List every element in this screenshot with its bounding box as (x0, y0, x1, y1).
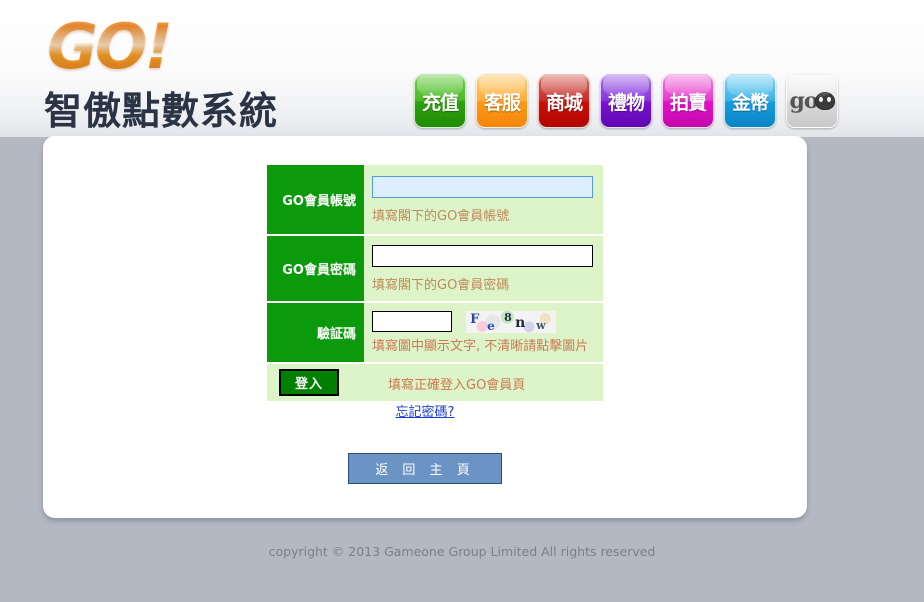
captcha-image[interactable]: F e 8 n w (466, 311, 556, 333)
nav-label-recharge: 充值 (422, 88, 458, 115)
nav-label-gift: 禮物 (608, 88, 644, 115)
label-account: GO會員帳號 (267, 165, 364, 235)
nav-button-go-home[interactable]: go (786, 74, 838, 128)
captcha-char-0: F (470, 312, 479, 327)
site-logo[interactable]: GO! GO! 智傲點數系統 (42, 8, 372, 130)
submit-cell-button: 登入 (267, 363, 364, 401)
forgot-password-link[interactable]: 忘記密碼? (396, 405, 455, 420)
go-logo-text: GO! (47, 10, 170, 83)
hint-password: 填寫閣下的GO會員密碼 (372, 274, 603, 293)
form-row-submit: 登入 填寫正確登入GO會員頁 (267, 363, 603, 401)
site-title: 智傲點數系統 (44, 80, 278, 135)
nav-label-auction: 拍賣 (670, 88, 706, 115)
login-form: GO會員帳號 填寫閣下的GO會員帳號 GO會員密碼 填寫閣下的GO會員密碼 驗証… (267, 165, 603, 401)
nav-button-mall[interactable]: 商城 (538, 74, 590, 128)
footer-copyright: copyright © 2013 Gameone Group Limited A… (0, 544, 924, 559)
submit-cell-hint: 填寫正確登入GO會員頁 (364, 363, 603, 401)
nav-label-mall: 商城 (546, 88, 582, 115)
captcha-char-4: w (536, 319, 545, 332)
nav-button-auction[interactable]: 拍賣 (662, 74, 714, 128)
page-header: GO! GO! 智傲點數系統 充值 客服 商城 禮物 拍賣 金幣 go (0, 0, 924, 137)
go-logo-icon-text: go (789, 88, 817, 114)
captcha-char-1: e (487, 319, 495, 333)
form-row-password: GO會員密碼 填寫閣下的GO會員密碼 (267, 235, 603, 302)
login-button[interactable]: 登入 (279, 369, 339, 396)
captcha-char-2: 8 (504, 311, 512, 324)
go-face-icon (815, 92, 835, 110)
captcha-input[interactable] (372, 311, 452, 332)
login-panel: GO會員帳號 填寫閣下的GO會員帳號 GO會員密碼 填寫閣下的GO會員密碼 驗証… (43, 136, 807, 518)
label-captcha: 驗証碼 (267, 302, 364, 363)
field-cell-captcha: F e 8 n w 填寫圖中顯示文字, 不清晰請點擊圖片 (364, 302, 603, 363)
field-cell-account: 填寫閣下的GO會員帳號 (364, 165, 603, 235)
nav-label-support: 客服 (484, 88, 520, 115)
form-row-account: GO會員帳號 填寫閣下的GO會員帳號 (267, 165, 603, 235)
go-logo-icon: go (789, 88, 834, 114)
label-password: GO會員密碼 (267, 235, 364, 302)
account-input[interactable] (372, 176, 593, 198)
captcha-char-3: n (515, 315, 525, 331)
password-input[interactable] (372, 245, 593, 267)
nav-button-support[interactable]: 客服 (476, 74, 528, 128)
hint-captcha: 填寫圖中顯示文字, 不清晰請點擊圖片 (372, 335, 603, 354)
back-home-row: 返 回 主 頁 (43, 453, 807, 484)
forgot-password-row: 忘記密碼? (43, 401, 807, 421)
nav-button-coin[interactable]: 金幣 (724, 74, 776, 128)
nav-button-gift[interactable]: 禮物 (600, 74, 652, 128)
back-home-button[interactable]: 返 回 主 頁 (348, 453, 501, 484)
nav-label-coin: 金幣 (732, 88, 768, 115)
top-nav: 充值 客服 商城 禮物 拍賣 金幣 go (414, 74, 838, 128)
nav-button-recharge[interactable]: 充值 (414, 74, 466, 128)
field-cell-password: 填寫閣下的GO會員密碼 (364, 235, 603, 302)
hint-account: 填寫閣下的GO會員帳號 (372, 205, 603, 224)
hint-submit: 填寫正確登入GO會員頁 (388, 378, 525, 393)
form-row-captcha: 驗証碼 F e 8 n w 填寫圖中顯示文字, 不清晰請點擊圖片 (267, 302, 603, 363)
